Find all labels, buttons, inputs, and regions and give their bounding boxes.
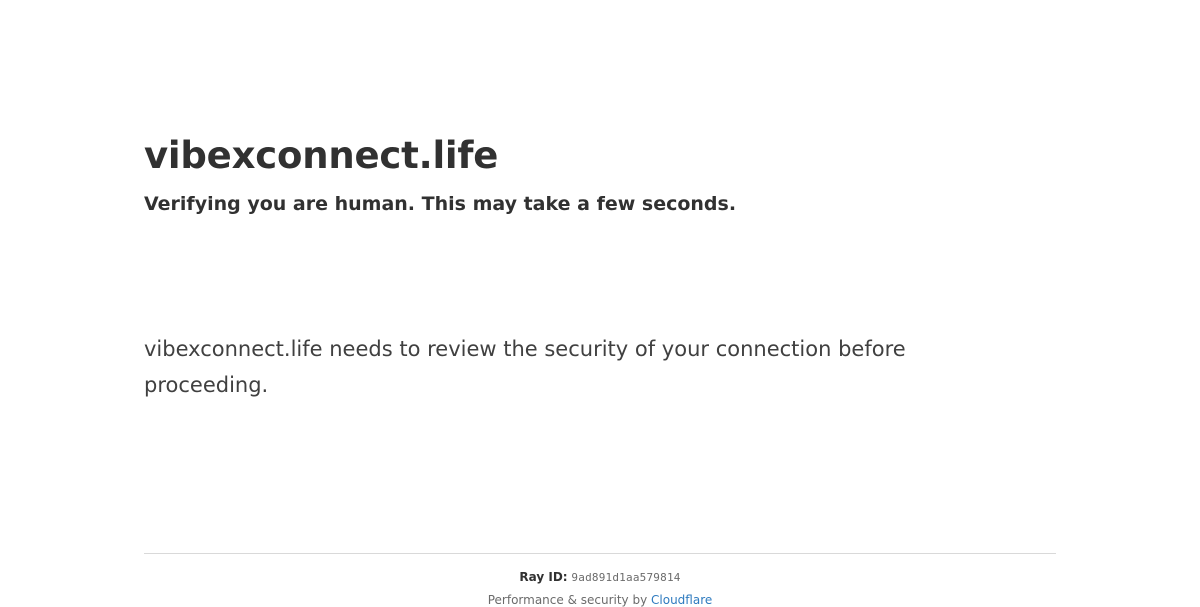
ray-id-value: 9ad891d1aa579814 — [571, 571, 680, 584]
turnstile-widget-container[interactable] — [144, 245, 444, 310]
security-credit-text: Performance & security by — [488, 593, 651, 607]
challenge-page: vibexconnect.life Verifying you are huma… — [0, 0, 1200, 600]
cloudflare-link[interactable]: Cloudflare — [651, 593, 712, 607]
security-credit-row: Performance & security by Cloudflare — [144, 585, 1056, 607]
ray-id-row: Ray ID: 9ad891d1aa579814 — [144, 554, 1056, 585]
page-footer: Ray ID: 9ad891d1aa579814 Performance & s… — [144, 553, 1056, 607]
verification-status-text: Verifying you are human. This may take a… — [144, 179, 1056, 217]
challenge-content: vibexconnect.life Verifying you are huma… — [144, 0, 1056, 403]
page-title: vibexconnect.life — [144, 0, 1056, 179]
ray-id-label: Ray ID: — [519, 570, 567, 584]
challenge-description: vibexconnect.life needs to review the se… — [144, 310, 944, 403]
